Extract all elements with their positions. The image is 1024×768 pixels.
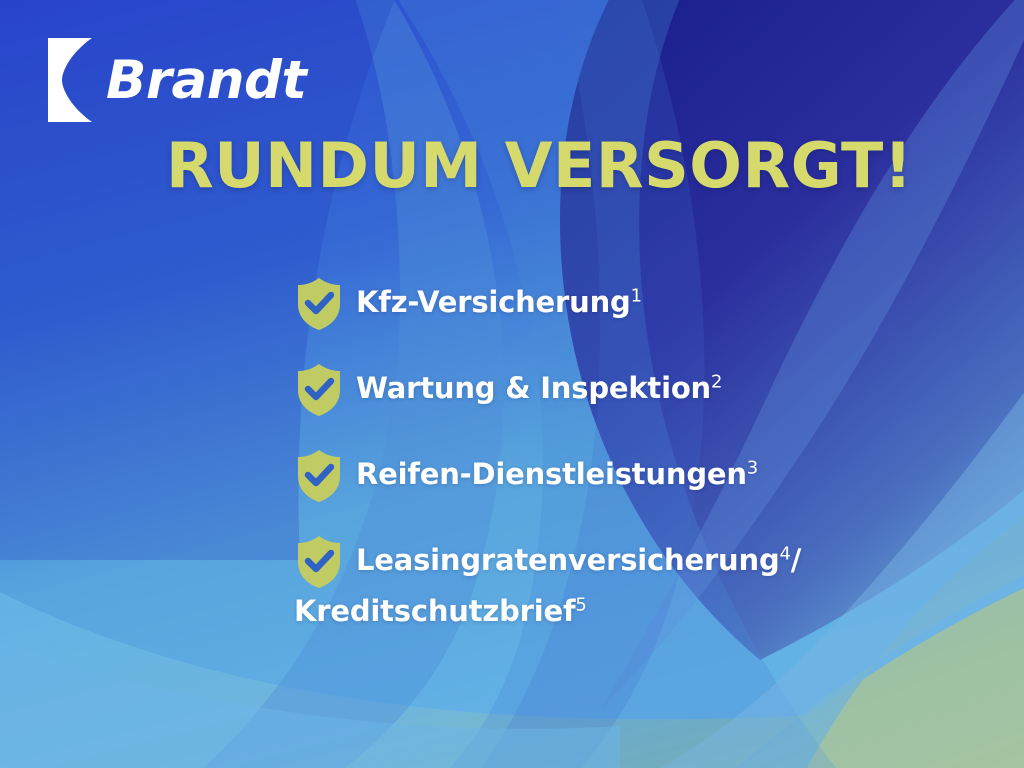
benefit-label: Kfz-Versicherung1	[356, 276, 642, 329]
headline-title: RUNDUM VERSORGT!	[166, 134, 913, 198]
shield-check-icon	[294, 448, 344, 504]
brandt-bracket-icon	[48, 38, 92, 122]
benefit-label: Wartung & Inspektion2	[356, 362, 722, 415]
list-item: Wartung & Inspektion2	[294, 362, 934, 418]
list-item: Reifen-Dienstleistungen3	[294, 448, 934, 504]
benefit-label: Reifen-Dienstleistungen3	[356, 448, 758, 501]
benefit-label: Leasingratenversicherung4/Kreditschutzbr…	[356, 534, 801, 638]
shield-check-icon	[294, 362, 344, 418]
list-item: Kfz-Versicherung1	[294, 276, 934, 332]
brand-logo: Brandt	[48, 38, 306, 122]
promotional-banner: Brandt RUNDUM VERSORGT! Kfz-Versicherung…	[0, 0, 1024, 768]
benefits-list: Kfz-Versicherung1 Wartung & Inspektion2 …	[294, 276, 934, 638]
list-item: Leasingratenversicherung4/Kreditschutzbr…	[294, 534, 934, 638]
shield-check-icon	[294, 276, 344, 332]
brand-wordmark: Brandt	[106, 54, 306, 107]
shield-check-icon	[294, 534, 344, 590]
